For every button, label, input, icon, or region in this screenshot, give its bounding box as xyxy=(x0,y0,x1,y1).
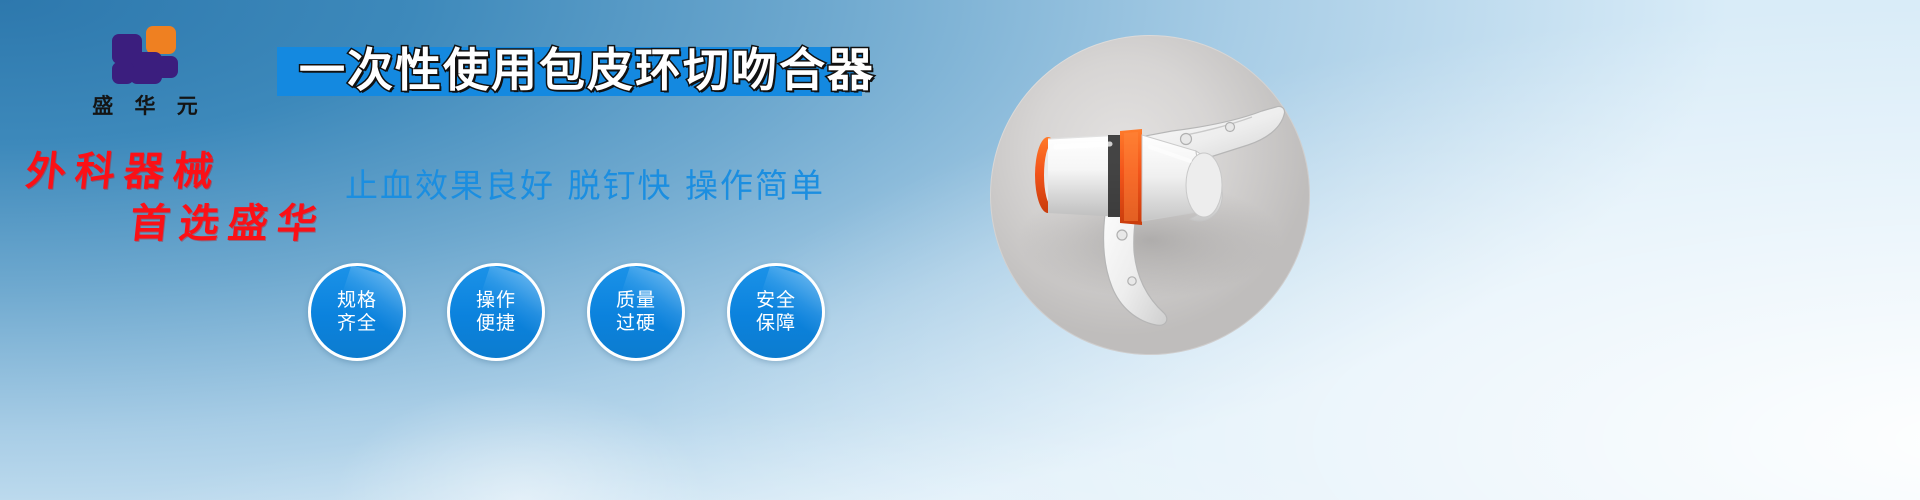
page-title: 一次性使用包皮环切吻合器 xyxy=(299,43,875,97)
company-blocks-logo-icon xyxy=(112,26,178,84)
feature-circle-4[interactable]: 安全 保障 xyxy=(727,263,825,361)
feature-label-line1: 安全 xyxy=(756,289,796,312)
product-photo xyxy=(990,35,1310,355)
background-light-sweep xyxy=(0,320,1920,500)
feature-label-line1: 操作 xyxy=(476,289,516,312)
company-logo[interactable]: 盛 华 元 xyxy=(60,26,230,122)
feature-label-line1: 质量 xyxy=(616,289,656,312)
main-title-bar: 一次性使用包皮环切吻合器 xyxy=(277,47,862,96)
product-illustration-icon xyxy=(990,35,1310,355)
feature-label-line2: 过硬 xyxy=(616,312,656,335)
feature-circle-2[interactable]: 操作 便捷 xyxy=(447,263,545,361)
feature-label-line1: 规格 xyxy=(337,289,377,312)
background-glow xyxy=(260,340,780,500)
subtitle: 止血效果良好 脱钉快 操作简单 xyxy=(345,166,825,206)
feature-circle-1[interactable]: 规格 齐全 xyxy=(308,263,406,361)
feature-label-line2: 便捷 xyxy=(476,312,516,335)
calligraphy-slogan: 外科器械 首选盛华 xyxy=(18,148,348,268)
feature-label-line2: 齐全 xyxy=(337,312,377,335)
feature-circle-3[interactable]: 质量 过硬 xyxy=(587,263,685,361)
logo-block-orange xyxy=(146,26,176,54)
logo-wordmark: 盛 华 元 xyxy=(60,90,230,120)
logo-block-purple-bottom xyxy=(112,62,134,84)
calligraphy-line-2: 首选盛华 xyxy=(15,200,350,248)
feature-label-line2: 保障 xyxy=(756,312,796,335)
calligraphy-line-1: 外科器械 xyxy=(15,148,350,196)
logo-block-purple-right xyxy=(156,56,178,78)
promo-banner: 盛 华 元 外科器械 首选盛华 一次性使用包皮环切吻合器 止血效果良好 脱钉快 … xyxy=(0,0,1920,500)
